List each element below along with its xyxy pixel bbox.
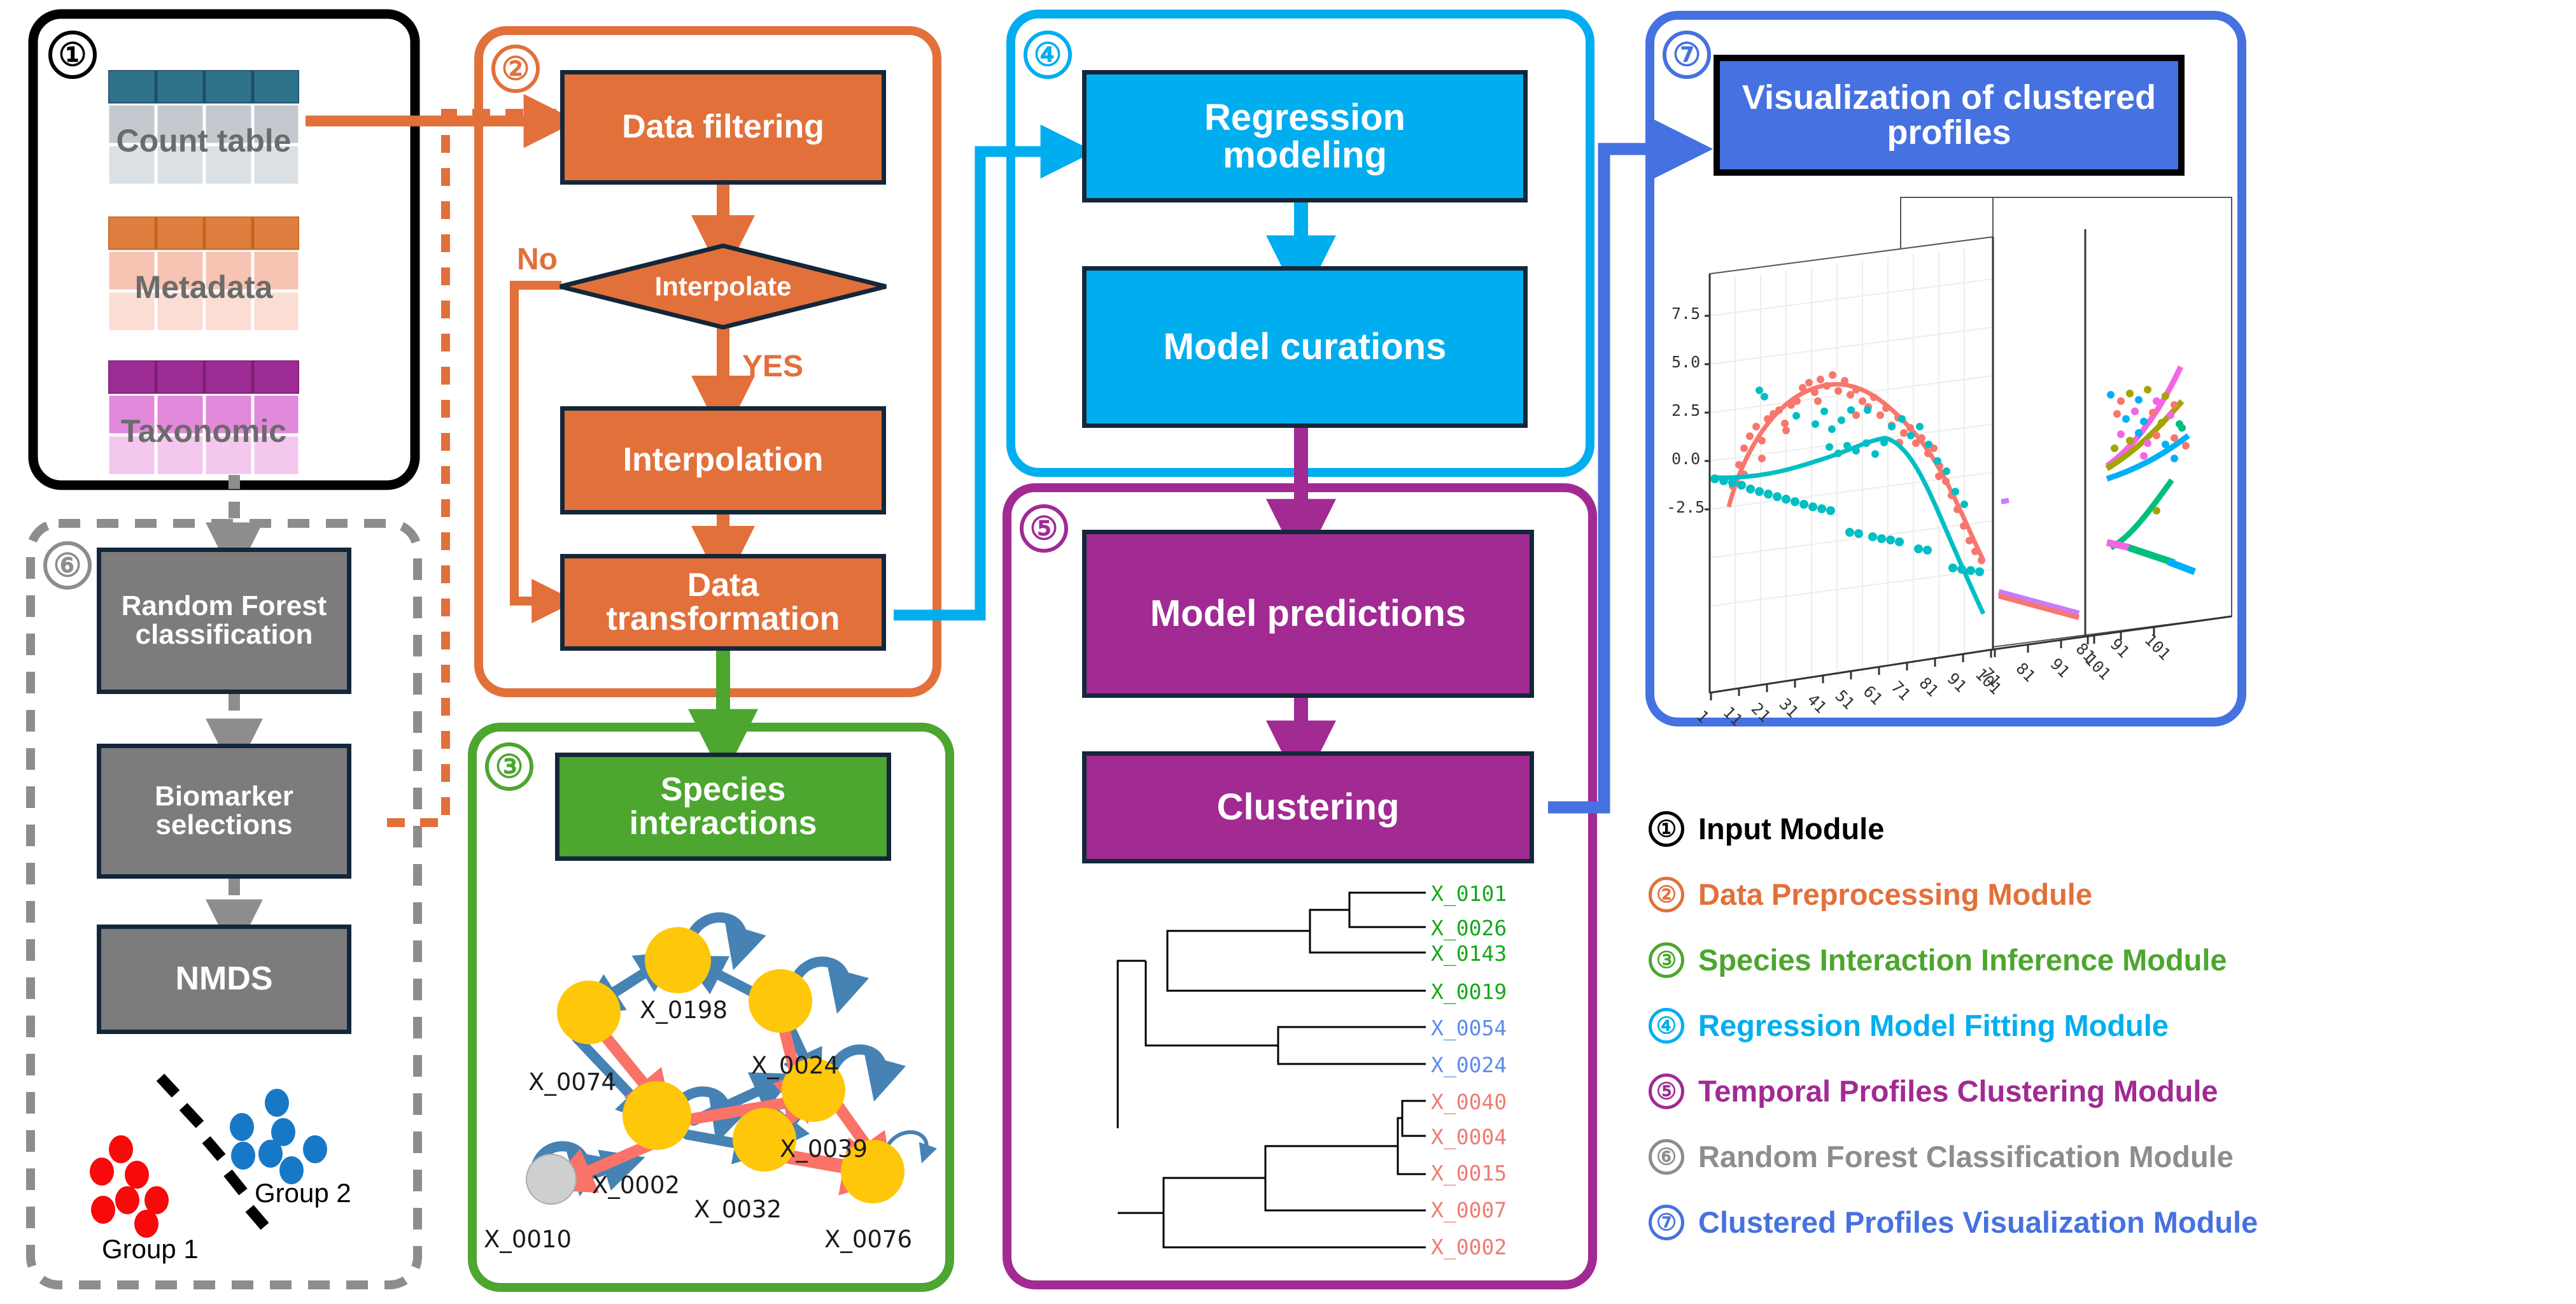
visualization-label: Visualization of clustered profiles bbox=[1742, 80, 2157, 150]
nmds-group2-label: Group 2 bbox=[255, 1178, 351, 1208]
clustering-box[interactable]: Clustering bbox=[1082, 751, 1534, 863]
module-2-badge: ② bbox=[491, 45, 540, 93]
dendrogram-leaf-label: X_0040 bbox=[1431, 1089, 1507, 1114]
module-5-badge: ⑤ bbox=[1020, 504, 1068, 553]
module-6-badge: ⑥ bbox=[43, 541, 92, 590]
legend-label: Input Module bbox=[1698, 811, 1884, 846]
legend-number-icon: ③ bbox=[1649, 942, 1684, 978]
network-label-X_0010: X_0010 bbox=[484, 1226, 572, 1253]
regression-modeling-label: Regression modeling bbox=[1125, 99, 1485, 174]
legend-label: Data Preprocessing Module bbox=[1698, 877, 2092, 912]
species-interactions-box[interactable]: Species interactions bbox=[555, 753, 891, 861]
dendrogram-leaf-label: X_0015 bbox=[1431, 1161, 1507, 1186]
model-predictions-label: Model predictions bbox=[1150, 595, 1466, 632]
data-filtering-label: Data filtering bbox=[622, 110, 824, 144]
dendrogram-leaf-label: X_0101 bbox=[1431, 881, 1507, 906]
network-node bbox=[557, 981, 621, 1044]
legend-item-6: ⑥ Random Forest Classification Module bbox=[1649, 1124, 2559, 1189]
dendrogram-leaf-label: X_0004 bbox=[1431, 1124, 1507, 1149]
interpolate-decision[interactable]: Interpolate bbox=[556, 243, 890, 330]
species-network-graphic bbox=[484, 879, 942, 1235]
network-node bbox=[623, 1081, 691, 1150]
network-label-X_0076: X_0076 bbox=[824, 1226, 912, 1253]
model-curations-box[interactable]: Model curations bbox=[1082, 266, 1528, 428]
dendrogram-leaf-label: X_0002 bbox=[1431, 1235, 1507, 1259]
legend-item-1: ① Input Module bbox=[1649, 796, 2559, 861]
network-node bbox=[526, 1154, 576, 1204]
legend-number-icon: ⑤ bbox=[1649, 1074, 1684, 1109]
dendrogram-leaf-label: X_0024 bbox=[1431, 1052, 1507, 1077]
legend-item-7: ⑦ Clustered Profiles Visualization Modul… bbox=[1649, 1189, 2559, 1255]
network-label-X_0032: X_0032 bbox=[694, 1196, 782, 1223]
random-forest-classification-box[interactable]: Random Forest classification bbox=[97, 548, 351, 694]
legend-number-icon: ⑦ bbox=[1649, 1205, 1684, 1240]
network-label-X_0074: X_0074 bbox=[528, 1068, 616, 1096]
biomarker-selections-label: Biomarker selections bbox=[116, 783, 332, 840]
species-interactions-label: Species interactions bbox=[588, 773, 859, 840]
module-1-badge: ① bbox=[48, 31, 97, 79]
network-label-X_0024: X_0024 bbox=[751, 1052, 839, 1079]
legend-label: Species Interaction Inference Module bbox=[1698, 942, 2227, 977]
visualization-box[interactable]: Visualization of clustered profiles bbox=[1714, 55, 2185, 176]
module-3-badge: ③ bbox=[485, 742, 533, 791]
legend-label: Random Forest Classification Module bbox=[1698, 1139, 2234, 1174]
taxonomic-table-label: Taxonomic bbox=[108, 413, 299, 450]
model-curations-label: Model curations bbox=[1164, 328, 1447, 365]
network-node bbox=[645, 927, 711, 993]
legend-label: Regression Model Fitting Module bbox=[1698, 1008, 2169, 1043]
yaxis-tick: -2.5 bbox=[1666, 498, 1705, 516]
module-7-badge: ⑦ bbox=[1663, 31, 1711, 79]
legend-label: Clustered Profiles Visualization Module bbox=[1698, 1205, 2258, 1240]
data-transformation-box[interactable]: Data transformation bbox=[560, 554, 886, 651]
random-forest-label: Random Forest classification bbox=[116, 592, 332, 649]
network-label-X_0198: X_0198 bbox=[640, 996, 728, 1024]
model-predictions-box[interactable]: Model predictions bbox=[1082, 530, 1534, 698]
data-transformation-label: Data transformation bbox=[590, 569, 856, 636]
legend-item-2: ② Data Preprocessing Module bbox=[1649, 861, 2559, 927]
nmds-group1-label: Group 1 bbox=[102, 1234, 199, 1265]
yaxis-tick: 7.5 bbox=[1672, 304, 1700, 323]
module-4-badge: ④ bbox=[1024, 31, 1072, 79]
interpolation-box[interactable]: Interpolation bbox=[560, 406, 886, 514]
yaxis-tick: 2.5 bbox=[1672, 401, 1700, 420]
yaxis-tick: 5.0 bbox=[1672, 353, 1700, 371]
legend-number-icon: ⑥ bbox=[1649, 1139, 1684, 1175]
legend-item-4: ④ Regression Model Fitting Module bbox=[1649, 993, 2559, 1058]
regression-modeling-box[interactable]: Regression modeling bbox=[1082, 70, 1528, 202]
clustering-label: Clustering bbox=[1217, 788, 1400, 826]
dendrogram-leaf-label: X_0019 bbox=[1431, 979, 1507, 1004]
no-branch-label: No bbox=[517, 242, 558, 277]
metadata-table-label: Metadata bbox=[108, 269, 299, 306]
legend-number-icon: ① bbox=[1649, 811, 1684, 847]
dendrogram-leaf-label: X_0054 bbox=[1431, 1016, 1507, 1040]
count-table-label: Count table bbox=[108, 122, 299, 159]
yaxis-tick: 0.0 bbox=[1672, 450, 1700, 468]
biomarker-selections-box[interactable]: Biomarker selections bbox=[97, 744, 351, 879]
data-filtering-box[interactable]: Data filtering bbox=[560, 70, 886, 185]
network-node bbox=[749, 969, 812, 1033]
interpolate-label: Interpolate bbox=[556, 243, 890, 330]
legend-item-5: ⑤ Temporal Profiles Clustering Module bbox=[1649, 1058, 2559, 1124]
legend-number-icon: ④ bbox=[1649, 1008, 1684, 1044]
arrow-clustering-to-visualization bbox=[1548, 149, 1679, 807]
pipeline-diagram: ① ② ③ ④ ⑤ ⑥ ⑦ Count table bbox=[0, 0, 2576, 1304]
network-label-X_0002: X_0002 bbox=[592, 1172, 680, 1199]
arrow-no-branch bbox=[514, 285, 561, 601]
nmds-box[interactable]: NMDS bbox=[97, 925, 351, 1034]
dendrogram-leaf-label: X_0026 bbox=[1431, 916, 1507, 940]
dendrogram-leaf-label: X_0007 bbox=[1431, 1198, 1507, 1222]
network-label-X_0039: X_0039 bbox=[780, 1135, 868, 1163]
nmds-label: NMDS bbox=[175, 962, 272, 996]
legend-item-3: ③ Species Interaction Inference Module bbox=[1649, 927, 2559, 993]
module-legend: ① Input Module ② Data Preprocessing Modu… bbox=[1649, 796, 2559, 1255]
interpolation-label: Interpolation bbox=[623, 443, 824, 477]
dendrogram-graphic bbox=[1057, 877, 1464, 1285]
yes-branch-label: YES bbox=[742, 349, 803, 384]
legend-number-icon: ② bbox=[1649, 877, 1684, 912]
legend-label: Temporal Profiles Clustering Module bbox=[1698, 1074, 2218, 1109]
dendrogram-leaf-label: X_0143 bbox=[1431, 941, 1507, 966]
